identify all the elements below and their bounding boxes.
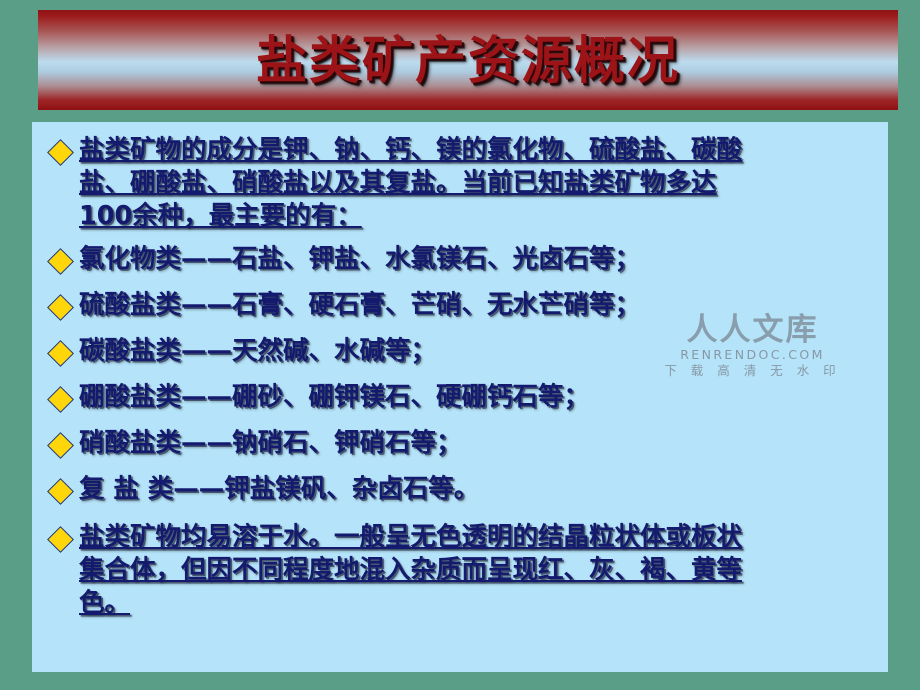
- text-line: 100余种，最主要的有：: [79, 200, 874, 233]
- text-line: 盐类矿物的成分是钾、钠、钙、镁的氯化物、硫酸盐、碳酸: [79, 134, 874, 167]
- diamond-bullet-icon: [46, 247, 76, 277]
- list-item: 盐类矿物的成分是钾、钠、钙、镁的氯化物、硫酸盐、碳酸 盐、硼酸盐、硝酸盐以及其复…: [46, 134, 874, 233]
- text-line: 盐类矿物均易溶于水。一般呈无色透明的结晶粒状体或板状: [79, 521, 874, 554]
- list-item: 复 盐 类——钾盐镁矾、杂卤石等。: [46, 473, 874, 507]
- text-line: 色。: [79, 587, 874, 620]
- text-line: 复 盐 类——钾盐镁矾、杂卤石等。: [79, 473, 874, 506]
- text-line: 碳酸盐类——天然碱、水碱等；: [79, 335, 874, 368]
- page-title: 盐类矿产资源概况: [256, 36, 680, 87]
- title-banner: 盐类矿产资源概况: [38, 10, 898, 110]
- list-item: 硫酸盐类——石膏、硬石膏、芒硝、无水芒硝等；: [46, 289, 874, 323]
- list-item-text: 硝酸盐类——钠硝石、钾硝石等；: [79, 427, 874, 460]
- text-line: 硝酸盐类——钠硝石、钾硝石等；: [79, 427, 874, 460]
- list-item-text: 氯化物类——石盐、钾盐、水氯镁石、光卤石等；: [79, 243, 874, 276]
- text-line: 硼酸盐类——硼砂、硼钾镁石、硬硼钙石等；: [79, 381, 874, 414]
- diamond-bullet-icon: [46, 477, 76, 507]
- list-item: 硼酸盐类——硼砂、硼钾镁石、硬硼钙石等；: [46, 381, 874, 415]
- diamond-bullet-icon: [46, 385, 76, 415]
- diamond-bullet-icon: [46, 293, 76, 323]
- diamond-bullet-icon: [46, 525, 76, 555]
- content-panel: 盐类矿物的成分是钾、钠、钙、镁的氯化物、硫酸盐、碳酸 盐、硼酸盐、硝酸盐以及其复…: [32, 122, 888, 672]
- text-line: 集合体，但因不同程度地混入杂质而呈现红、灰、褐、黄等: [79, 554, 874, 587]
- slide-canvas: 盐类矿产资源概况 盐类矿物的成分是钾、钠、钙、镁的氯化物、硫酸盐、碳酸 盐、硼酸…: [0, 0, 920, 690]
- list-item-text: 复 盐 类——钾盐镁矾、杂卤石等。: [79, 473, 874, 506]
- diamond-bullet-icon: [46, 339, 76, 369]
- list-item-text: 硫酸盐类——石膏、硬石膏、芒硝、无水芒硝等；: [79, 289, 874, 322]
- list-item-text: 碳酸盐类——天然碱、水碱等；: [79, 335, 874, 368]
- list-item-text: 硼酸盐类——硼砂、硼钾镁石、硬硼钙石等；: [79, 381, 874, 414]
- diamond-bullet-icon: [46, 431, 76, 461]
- list-item: 硝酸盐类——钠硝石、钾硝石等；: [46, 427, 874, 461]
- diamond-bullet-icon: [46, 138, 76, 168]
- list-item: 氯化物类——石盐、钾盐、水氯镁石、光卤石等；: [46, 243, 874, 277]
- list-item: 盐类矿物均易溶于水。一般呈无色透明的结晶粒状体或板状 集合体，但因不同程度地混入…: [46, 521, 874, 620]
- text-line: 氯化物类——石盐、钾盐、水氯镁石、光卤石等；: [79, 243, 874, 276]
- list-item-text: 盐类矿物均易溶于水。一般呈无色透明的结晶粒状体或板状 集合体，但因不同程度地混入…: [79, 521, 874, 620]
- list-item: 碳酸盐类——天然碱、水碱等；: [46, 335, 874, 369]
- text-line: 硫酸盐类——石膏、硬石膏、芒硝、无水芒硝等；: [79, 289, 874, 322]
- text-line: 盐、硼酸盐、硝酸盐以及其复盐。当前已知盐类矿物多达: [79, 167, 874, 200]
- list-item-text: 盐类矿物的成分是钾、钠、钙、镁的氯化物、硫酸盐、碳酸 盐、硼酸盐、硝酸盐以及其复…: [79, 134, 874, 233]
